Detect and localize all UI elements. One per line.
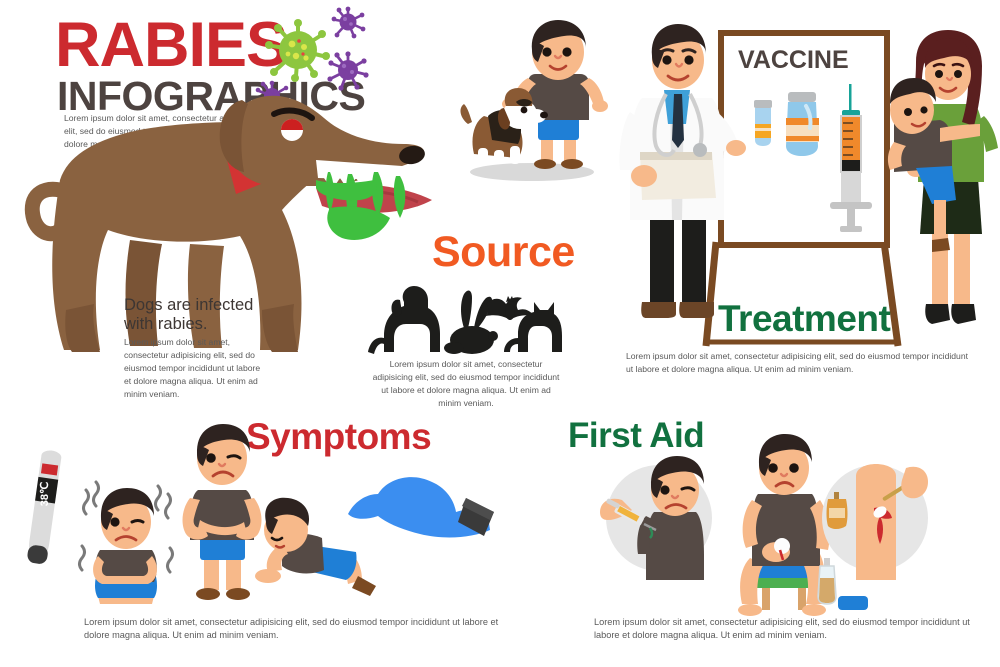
treatment-paragraph: Lorem ipsum dolor sit amet, consectetur … (626, 350, 974, 376)
source-animal-silhouettes (366, 282, 566, 360)
soap-tray-icon (838, 596, 868, 610)
source-paragraph: Lorem ipsum dolor sit amet, consectetur … (370, 358, 562, 410)
injection-scene-art (600, 462, 720, 580)
symptoms-paragraph: Lorem ipsum dolor sit amet, consectetur … (84, 616, 512, 643)
mother-holding-child-figure (898, 32, 1000, 332)
treatment-heading: Treatment (718, 298, 890, 340)
doctor-figure (612, 20, 752, 320)
firstaid-heading: First Aid (568, 416, 704, 456)
dog-silhouette-icon (368, 286, 440, 354)
water-splash-hydrophobia (348, 476, 504, 556)
rabbit-silhouette-icon (444, 291, 498, 354)
infographic-canvas: Adobe Stock | #207370628 RABIES INFOGRAP… (0, 0, 1000, 667)
vaccine-vial-large-icon (786, 92, 819, 156)
vaccine-vial-small-icon (754, 100, 772, 146)
dog-lead-text: Dogs are infected with rabies. (124, 296, 272, 334)
firstaid-paragraph: Lorem ipsum dolor sit amet, consectetur … (594, 616, 970, 643)
antiseptic-bottle-icon (827, 492, 848, 529)
cotton-ball-icon (774, 538, 790, 554)
boy-petting-beagle (458, 16, 608, 186)
antiseptic-wound-art (822, 462, 942, 580)
source-heading: Source (432, 228, 575, 277)
syringe-icon (830, 84, 872, 232)
vaccine-board-label: VACCINE (738, 46, 849, 75)
hand-icon (901, 467, 928, 499)
boy-fever-shivering (70, 470, 182, 604)
virus-icon-purple-1 (332, 7, 366, 39)
thermometer-reading: 38℃ (39, 482, 51, 507)
thermometer-icon: 38℃ (20, 450, 68, 568)
dog-paragraph: Lorem ipsum dolor sit amet, consectetur … (124, 336, 264, 400)
